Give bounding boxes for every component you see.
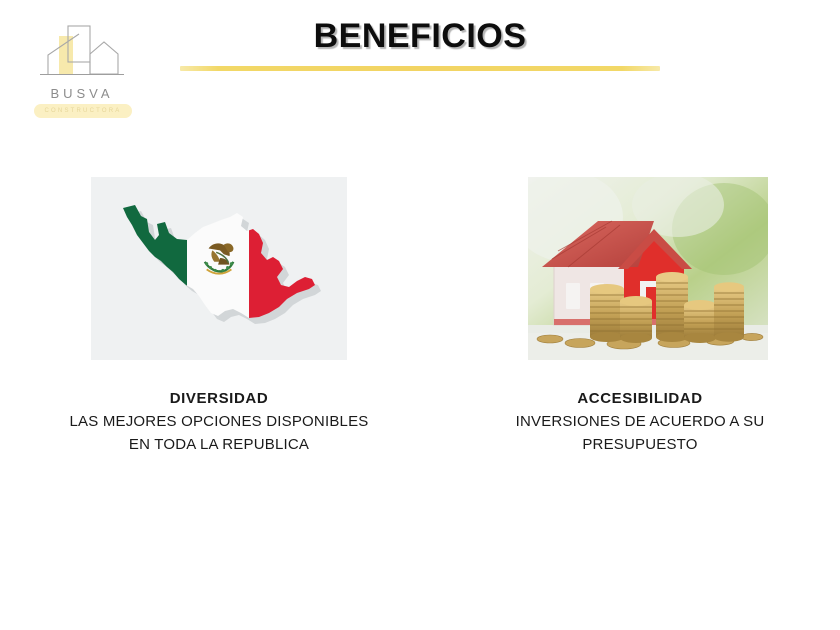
benefit-text-line-2: EN TODA LA REPUBLICA xyxy=(14,433,424,456)
benefit-text-line-2: PRESUPUESTO xyxy=(462,433,818,456)
logo-subtitle: CONSTRUCTORA xyxy=(34,105,132,117)
slide-canvas: BUSVA CONSTRUCTORA BENEFICIOS xyxy=(0,0,840,630)
brand-logo[interactable]: BUSVA CONSTRUCTORA xyxy=(22,24,142,120)
title-underline-rule xyxy=(180,66,660,71)
house-and-coins-image xyxy=(528,177,768,360)
building-outline-icon xyxy=(34,24,130,86)
benefit-heading: ACCESIBILIDAD xyxy=(462,388,818,410)
benefit-heading: DIVERSIDAD xyxy=(14,388,424,410)
benefit-caption-diversidad: DIVERSIDAD LAS MEJORES OPCIONES DISPONIB… xyxy=(14,388,424,456)
mexico-flag-map-image xyxy=(91,177,347,360)
benefit-text-line-1: LAS MEJORES OPCIONES DISPONIBLES xyxy=(14,410,424,433)
logo-wordmark: BUSVA xyxy=(22,86,142,101)
page-title: BENEFICIOS xyxy=(180,17,660,56)
benefit-caption-accesibilidad: ACCESIBILIDAD INVERSIONES DE ACUERDO A S… xyxy=(462,388,818,456)
benefit-text-line-1: INVERSIONES DE ACUERDO A SU xyxy=(462,410,818,433)
